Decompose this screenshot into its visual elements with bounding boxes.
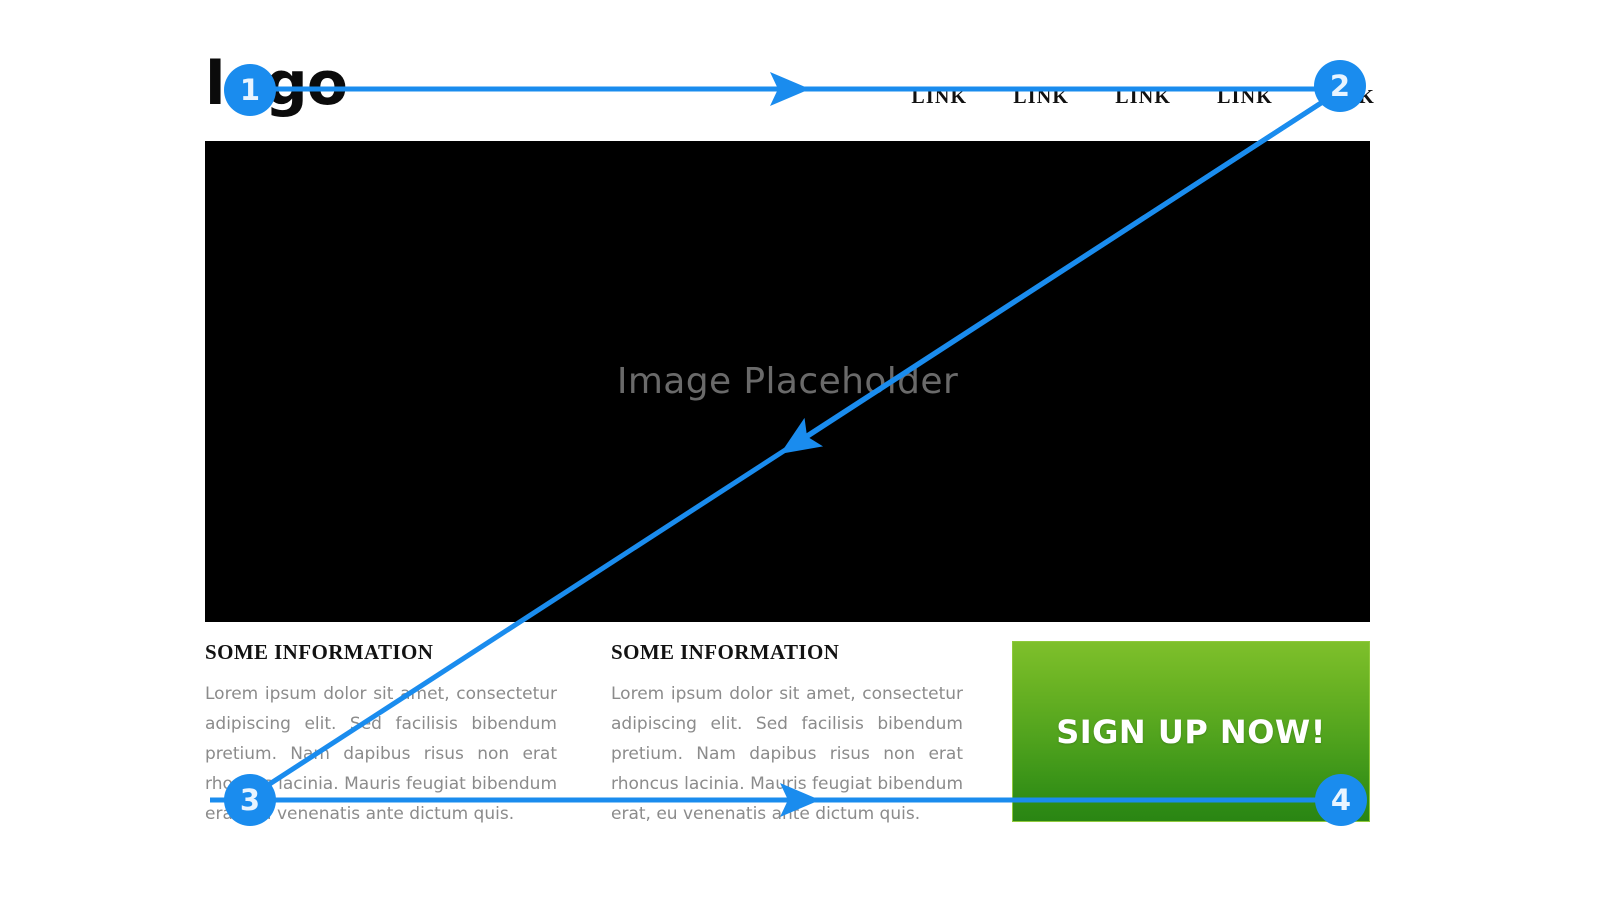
info-column-2: SOME INFORMATION Lorem ipsum dolor sit a…: [611, 640, 963, 829]
main-navigation: LINK LINK LINK LINK LINK: [911, 86, 1375, 109]
nav-link-1[interactable]: LINK: [911, 86, 967, 109]
page-canvas: logo LINK LINK LINK LINK LINK Image Plac…: [0, 0, 1600, 900]
nav-link-3[interactable]: LINK: [1115, 86, 1171, 109]
annotation-marker-1[interactable]: 1: [224, 64, 276, 116]
hero-image-placeholder: Image Placeholder: [205, 141, 1370, 622]
info-column-2-body: Lorem ipsum dolor sit amet, consectetur …: [611, 679, 963, 829]
annotation-marker-4[interactable]: 4: [1315, 774, 1367, 826]
annotation-marker-2[interactable]: 2: [1314, 60, 1366, 112]
info-column-1-heading: SOME INFORMATION: [205, 640, 557, 665]
nav-link-2[interactable]: LINK: [1013, 86, 1069, 109]
nav-link-4[interactable]: LINK: [1217, 86, 1273, 109]
info-column-2-heading: SOME INFORMATION: [611, 640, 963, 665]
site-header: logo LINK LINK LINK LINK LINK: [205, 48, 1370, 120]
sign-up-now-label: SIGN UP NOW!: [1056, 713, 1326, 751]
annotation-marker-3[interactable]: 3: [224, 774, 276, 826]
hero-placeholder-label: Image Placeholder: [617, 361, 958, 402]
